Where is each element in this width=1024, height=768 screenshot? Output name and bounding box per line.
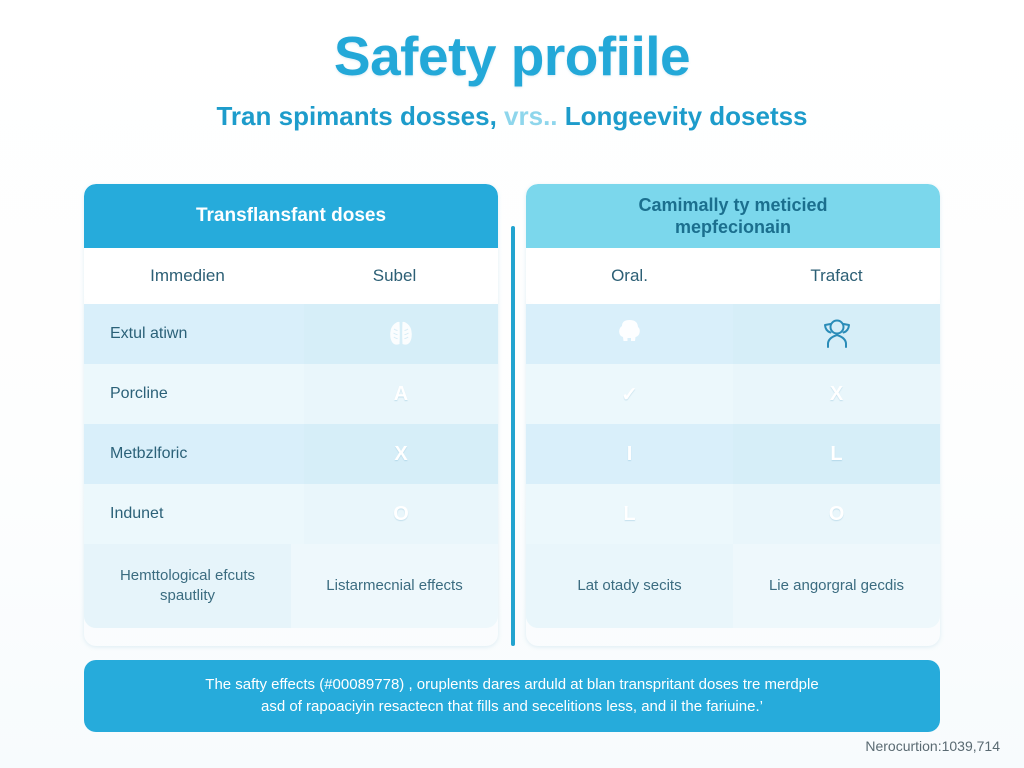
- row-value: [526, 304, 733, 364]
- table-row: I L: [526, 424, 940, 484]
- banner-line-1: The safty effects (#00089778) , oruplent…: [205, 674, 818, 697]
- brain-icon: [609, 314, 651, 354]
- table-row: L O: [526, 484, 940, 544]
- panel-longevity: Camimally ty meticied mepfecionain Oral.…: [526, 184, 940, 646]
- table-row: [526, 304, 940, 364]
- panel-longevity-header-line2: mepfecionain: [638, 216, 827, 239]
- table-row: Indunet O: [84, 484, 498, 544]
- page-title: Safety profiile: [0, 26, 1024, 87]
- table-row: Porcline A: [84, 364, 498, 424]
- footer-cell: Lie angorgral gecdis: [733, 544, 940, 628]
- panel-transplant-header: Transflansfant doses: [84, 184, 498, 248]
- footer-cell: Listarmecnial effects: [291, 544, 498, 628]
- attribution-text: Nerocurtion:1039,714: [865, 738, 1000, 754]
- row-value: ✓: [526, 364, 733, 424]
- panel-longevity-footer: Lat otady secits Lie angorgral gecdis: [526, 544, 940, 628]
- footer-cell: Lat otady secits: [526, 544, 733, 628]
- poster-canvas: Safety profiile Tran spimants dosses, vr…: [0, 0, 1024, 768]
- row-label: Porcline: [84, 364, 304, 424]
- subheader-trafact: Trafact: [733, 248, 940, 304]
- subtitle-versus: vrs..: [504, 101, 558, 131]
- table-row: Metbzlforic X: [84, 424, 498, 484]
- row-value: L: [526, 484, 733, 544]
- table-row: ✓ X: [526, 364, 940, 424]
- panel-longevity-subheaders: Oral. Trafact: [526, 248, 940, 304]
- comparison-panels: Transflansfant doses Immedien Subel Extu…: [84, 184, 940, 646]
- person-flower-icon: [816, 314, 858, 354]
- row-value: X: [304, 424, 498, 484]
- row-label: Metbzlforic: [84, 424, 304, 484]
- panel-transplant: Transflansfant doses Immedien Subel Extu…: [84, 184, 498, 646]
- title-block: Safety profiile Tran spimants dosses, vr…: [0, 26, 1024, 132]
- row-value: I: [526, 424, 733, 484]
- panel-longevity-rows: ✓ X I L L O: [526, 304, 940, 544]
- row-value: [733, 304, 940, 364]
- row-label: Extul atiwn: [84, 304, 304, 364]
- table-row: Extul atiwn: [84, 304, 498, 364]
- row-value: O: [304, 484, 498, 544]
- subtitle-part-2: Longeevity dosetss: [565, 101, 808, 131]
- panel-divider: [511, 226, 515, 646]
- summary-banner: The safty effects (#00089778) , oruplent…: [84, 660, 940, 732]
- row-value: L: [733, 424, 940, 484]
- subheader-immedien: Immedien: [84, 248, 291, 304]
- panel-transplant-footer: Hemttological efcuts spautlity Listarmec…: [84, 544, 498, 628]
- footer-cell: Hemttological efcuts spautlity: [84, 544, 291, 628]
- panel-transplant-subheaders: Immedien Subel: [84, 248, 498, 304]
- row-value: O: [733, 484, 940, 544]
- subheader-subel: Subel: [291, 248, 498, 304]
- row-value: X: [733, 364, 940, 424]
- page-subtitle: Tran spimants dosses, vrs.. Longeevity d…: [0, 101, 1024, 132]
- panel-longevity-header: Camimally ty meticied mepfecionain: [526, 184, 940, 248]
- row-value: [304, 304, 498, 364]
- row-value: A: [304, 364, 498, 424]
- banner-line-2: asd of rapoaciyin resactecn that fills a…: [205, 696, 818, 719]
- lungs-icon: [381, 314, 421, 354]
- panel-longevity-header-line1: Camimally ty meticied: [638, 194, 827, 217]
- panel-transplant-rows: Extul atiwn: [84, 304, 498, 544]
- subheader-oral: Oral.: [526, 248, 733, 304]
- subtitle-part-1: Tran spimants dosses,: [216, 101, 496, 131]
- row-label: Indunet: [84, 484, 304, 544]
